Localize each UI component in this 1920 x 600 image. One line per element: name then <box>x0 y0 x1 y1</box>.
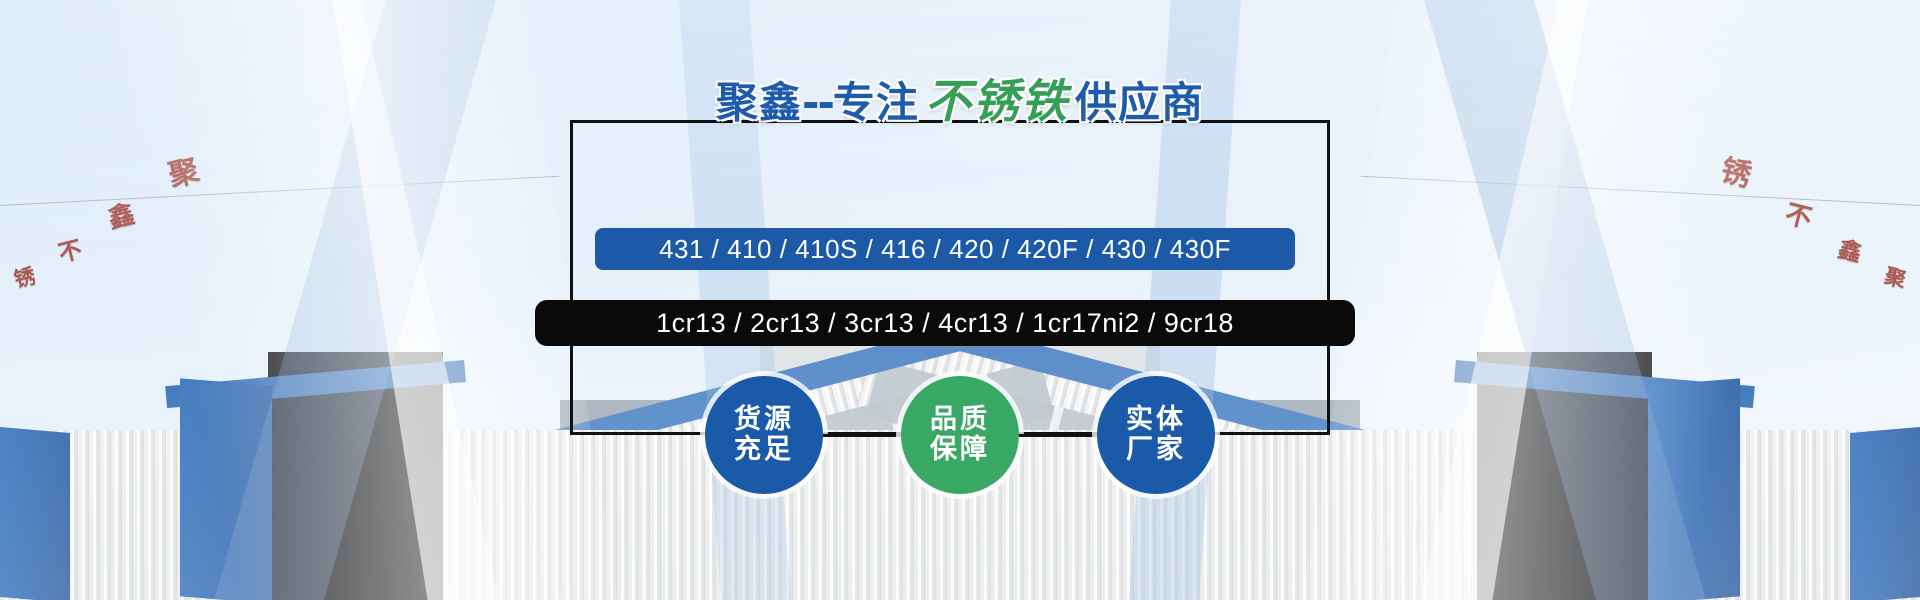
grade-bar-primary: 431 / 410 / 410S / 416 / 420 / 420F / 43… <box>595 228 1295 270</box>
feature-circle-quality-line2: 保障 <box>930 435 990 465</box>
feature-connector-2 <box>1019 434 1097 437</box>
title-part-company: 聚鑫 <box>716 78 802 127</box>
feature-circle-quality-line1: 品质 <box>930 405 990 435</box>
feature-circle-supply: 货源 充足 <box>705 376 823 494</box>
banner-stage: 聚 鑫 不 锈 锈 不 鑫 聚 聚鑫--专注不锈铁供应商 431 / 410 /… <box>0 0 1920 600</box>
grade-bar-primary-text: 431 / 410 / 410S / 416 / 420 / 420F / 43… <box>659 234 1231 265</box>
title-highlight-material: 不锈铁 <box>925 74 1069 128</box>
title-part-focus: 专注 <box>833 78 919 127</box>
feature-circle-supply-line2: 充足 <box>734 435 794 465</box>
feature-circle-factory: 实体 厂家 <box>1097 376 1215 494</box>
feature-circle-factory-line1: 实体 <box>1126 405 1186 435</box>
title-dash: -- <box>802 78 833 127</box>
title-part-supplier: 供应商 <box>1075 78 1204 127</box>
grade-bar-secondary: 1cr13 / 2cr13 / 3cr13 / 4cr13 / 1cr17ni2… <box>535 300 1355 346</box>
feature-circle-supply-line1: 货源 <box>734 405 794 435</box>
feature-circle-factory-line2: 厂家 <box>1126 435 1186 465</box>
feature-circle-quality: 品质 保障 <box>901 376 1019 494</box>
feature-connector-1 <box>823 434 901 437</box>
grade-bar-secondary-text: 1cr13 / 2cr13 / 3cr13 / 4cr13 / 1cr17ni2… <box>656 308 1234 339</box>
feature-circles: 货源 充足 品质 保障 实体 厂家 <box>0 370 1920 500</box>
banner-title: 聚鑫--专注不锈铁供应商 <box>0 78 1920 124</box>
